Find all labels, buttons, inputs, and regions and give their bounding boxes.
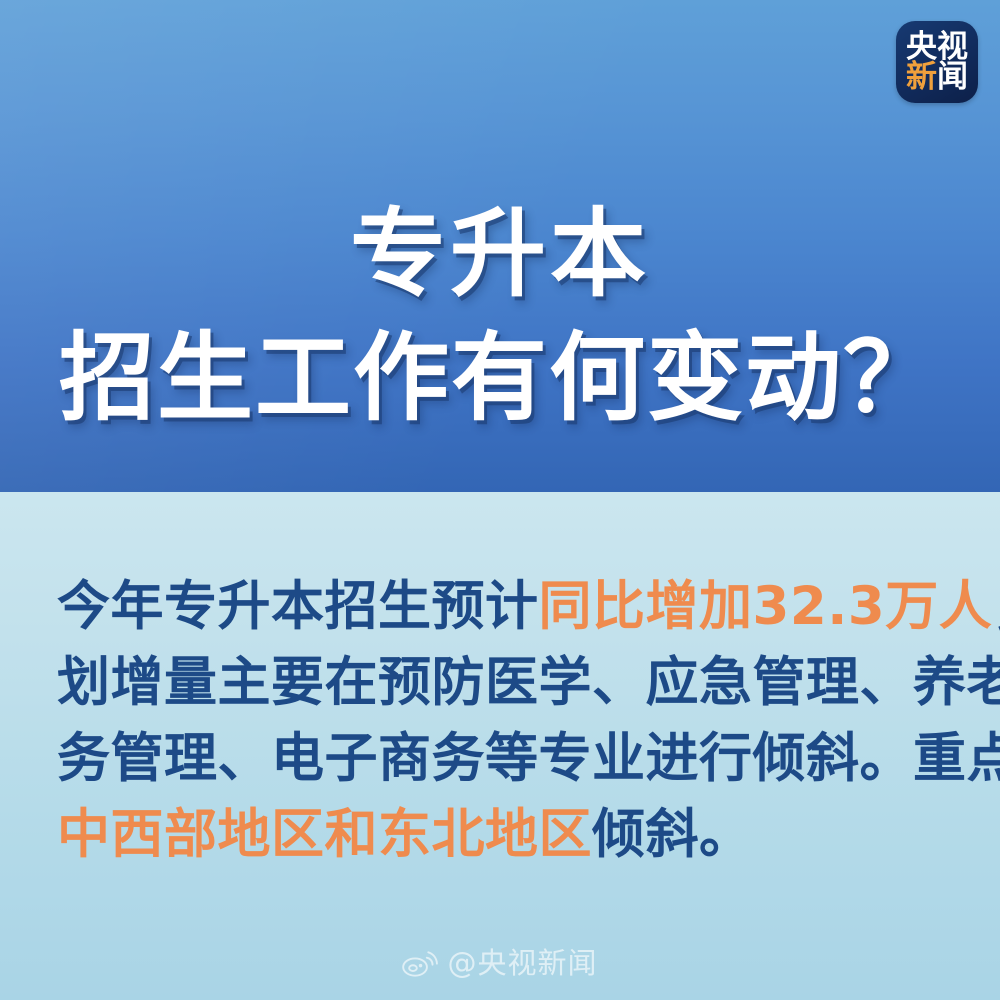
body-line: 划增量主要在预防医学、应急管理、养老服 — [57, 645, 963, 721]
body-plain-text: 务管理、电子商务等专业进行倾斜。重点向 — [57, 728, 1000, 789]
cctv-news-logo: 央视 新 闻 — [896, 21, 978, 103]
logo-row-top: 央视 — [906, 32, 968, 62]
body-plain-text: ，计 — [992, 576, 1000, 637]
body-highlight-text: 中西部地区和东北地区 — [57, 804, 592, 865]
body-line: 今年专升本招生预计同比增加32.3万人，计 — [57, 569, 963, 645]
body-plain-text: 划增量主要在预防医学、应急管理、养老服 — [57, 652, 1000, 713]
body-highlight-text: 同比增加32.3万人 — [539, 576, 993, 637]
body-line: 务管理、电子商务等专业进行倾斜。重点向 — [57, 721, 963, 797]
headline-block: 专升本 招生工作有何变动？ — [0, 203, 1000, 430]
body-plain-text: 今年专升本招生预计 — [57, 576, 539, 637]
body-copy-block: 今年专升本招生预计同比增加32.3万人，计划增量主要在预防医学、应急管理、养老服… — [57, 569, 963, 873]
headline-line-2: 招生工作有何变动？ — [0, 327, 1000, 431]
logo-row-bottom: 新 闻 — [906, 62, 968, 92]
headline-line-1: 专升本 — [0, 203, 1000, 307]
body-line: 中西部地区和东北地区倾斜。 — [57, 797, 963, 873]
body-plain-text: 倾斜。 — [592, 804, 753, 865]
logo-text-xin: 新 — [906, 62, 937, 92]
logo-text-yangshi: 央视 — [906, 32, 968, 62]
logo-text-wen: 闻 — [937, 62, 968, 92]
poster-canvas: 央视 新 闻 专升本 招生工作有何变动？ 今年专升本招生预计同比增加32.3万人… — [0, 0, 1000, 1000]
